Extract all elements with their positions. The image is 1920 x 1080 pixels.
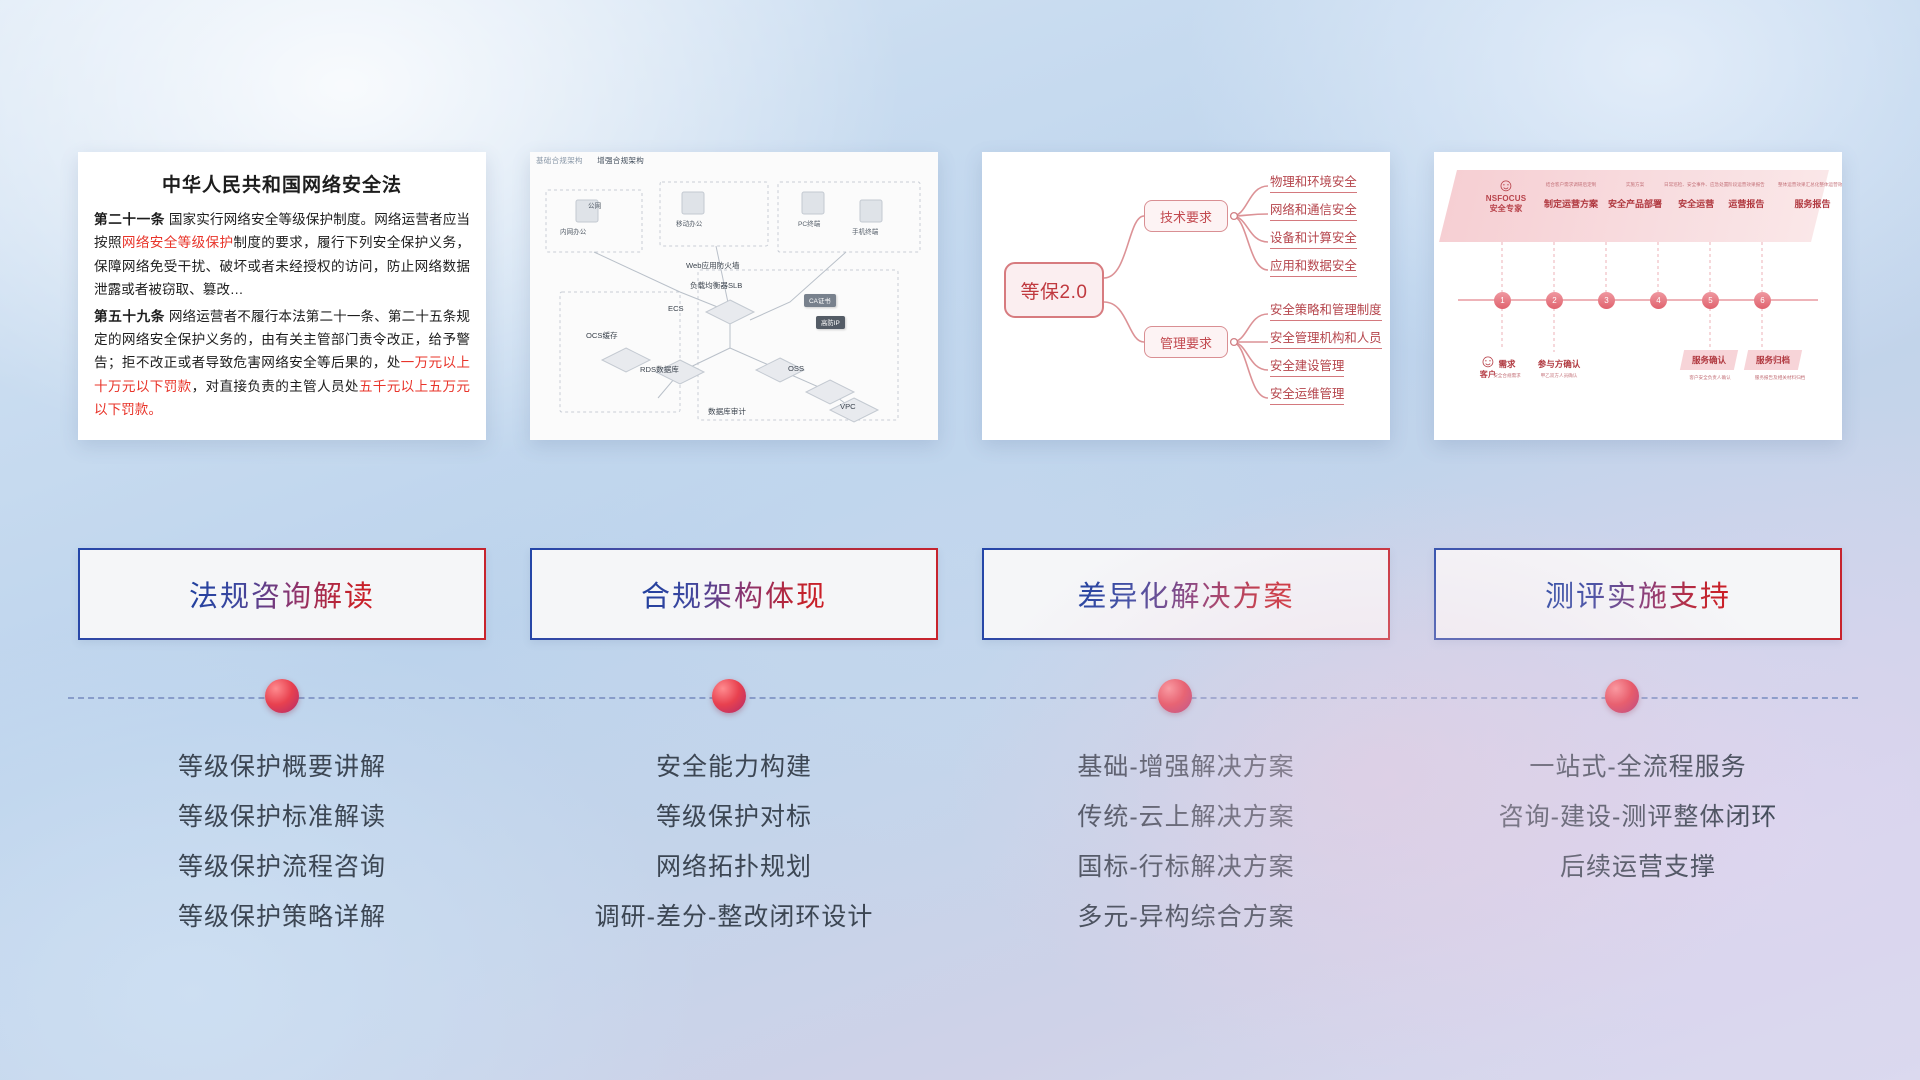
title-box-evaluation-support[interactable]: 测评实施支持 <box>1434 548 1842 640</box>
chip-anti-ddos-ip: 高防IP <box>816 316 845 329</box>
mindmap-leaf: 应用和数据安全 <box>1270 256 1357 277</box>
detail-list-differentiated-solution: 基础-增强解决方案 传统-云上解决方案 国标-行标解决方案 多元-异构综合方案 <box>982 742 1390 942</box>
card-mind-map: 等保2.0 技术要求 管理要求 物理和环境安全 网络和通信安全 设备和计算安全 … <box>982 152 1390 440</box>
node-label-slb: 负载均衡器SLB <box>690 280 742 291</box>
node-label-mobile-office: 移动办公 <box>676 218 702 228</box>
architecture-diagram-lines <box>530 152 938 440</box>
title-box-differentiated-solution[interactable]: 差异化解决方案 <box>982 548 1390 640</box>
list-item: 基础-增强解决方案 <box>982 742 1390 792</box>
node-label-rds: RDS数据库 <box>640 364 679 375</box>
mindmap-leaf: 安全管理机构和人员 <box>1270 328 1382 349</box>
mindmap-branch-management: 管理要求 <box>1144 326 1228 358</box>
timeline-node-5: 5 <box>1702 292 1719 309</box>
list-item: 等级保护标准解读 <box>78 792 486 842</box>
detail-list-row: 等级保护概要讲解 等级保护标准解读 等级保护流程咨询 等级保护策略详解 安全能力… <box>78 742 1842 942</box>
timeline-node-6: 6 <box>1754 292 1771 309</box>
title-text: 差异化解决方案 <box>1077 573 1294 615</box>
timeline-tag-service-archive: 服务归档 <box>1744 350 1802 370</box>
timeline-marker-3 <box>1158 679 1192 713</box>
mindmap-leaf: 网络和通信安全 <box>1270 200 1357 221</box>
mindmap-leaf: 安全建设管理 <box>1270 356 1344 377</box>
timeline-node-2: 2 <box>1546 292 1563 309</box>
title-text: 合规架构体现 <box>641 573 827 615</box>
detail-list-compliance-architecture: 安全能力构建 等级保护对标 网络拓扑规划 调研-差分-整改闭环设计 <box>530 742 938 942</box>
node-label-phone-terminal: 手机终端 <box>852 226 878 236</box>
node-label-ocs-cache: OCS缓存 <box>586 330 618 341</box>
node-label-db-audit: 数据库审计 <box>708 406 746 417</box>
mindmap-leaf: 设备和计算安全 <box>1270 228 1357 249</box>
law-title: 中华人民共和国网络安全法 <box>94 170 470 197</box>
card-cloud-architecture: 基础合规架构 增强合规架构 <box>530 152 938 440</box>
timeline-node-1: 1 <box>1494 292 1511 309</box>
mindmap-branch-technical: 技术要求 <box>1144 200 1228 232</box>
node-label-waf: Web应用防火墙 <box>686 260 739 271</box>
law-paragraph-1: 第二十一条 国家实行网络安全等级保护制度。网络运营者应当按照网络安全等级保护制度… <box>94 208 470 302</box>
law-paragraph-2: 第五十九条 网络运营者不履行本法第二十一条、第二十五条规定的网络安全保护义务的，… <box>94 305 470 422</box>
timeline-node-4: 4 <box>1650 292 1667 309</box>
timeline-dashed-line <box>68 697 1858 699</box>
list-item: 国标-行标解决方案 <box>982 842 1390 892</box>
timeline-bottom-label: 参与方确认 甲乙双方人员确认 <box>1526 358 1592 379</box>
title-text: 法规咨询解读 <box>189 573 375 615</box>
list-item: 等级保护对标 <box>530 792 938 842</box>
card-service-timeline: ☺ NSFOCUS 安全专家 结合客户需求调研后定制 制定运营方案 实施方案 安… <box>1434 152 1842 440</box>
timeline-bottom-sub: 客户安全负责人确认 <box>1674 372 1746 381</box>
list-item: 网络拓扑规划 <box>530 842 938 892</box>
list-item: 等级保护策略详解 <box>78 892 486 942</box>
node-label-pc-terminal: PC终端 <box>798 218 820 228</box>
node-label-vpc: VPC <box>840 402 856 411</box>
timeline-tag-service-confirm: 服务确认 <box>1680 350 1738 370</box>
law-run-highlight: 网络安全等级保护 <box>122 235 234 250</box>
illustration-card-row: 中华人民共和国网络安全法 第二十一条 国家实行网络安全等级保护制度。网络运营者应… <box>78 152 1842 440</box>
list-item: 咨询-建设-测评整体闭环 <box>1434 792 1842 842</box>
list-item: 后续运营支撑 <box>1434 842 1842 892</box>
mindmap-leaf: 安全运维管理 <box>1270 384 1344 405</box>
node-label-public-network: 公网 <box>588 200 601 210</box>
list-item: 等级保护流程咨询 <box>78 842 486 892</box>
list-item: 调研-差分-整改闭环设计 <box>530 892 938 942</box>
card-law-text: 中华人民共和国网络安全法 第二十一条 国家实行网络安全等级保护制度。网络运营者应… <box>78 152 486 440</box>
title-box-regulation-consulting[interactable]: 法规咨询解读 <box>78 548 486 640</box>
mindmap-leaf: 物理和环境安全 <box>1270 172 1357 193</box>
law-article-label-2: 第五十九条 <box>94 309 165 324</box>
section-title-row: 法规咨询解读 合规架构体现 差异化解决方案 测评实施支持 <box>78 548 1842 640</box>
timeline-marker-4 <box>1605 679 1639 713</box>
title-box-compliance-architecture[interactable]: 合规架构体现 <box>530 548 938 640</box>
list-item: 多元-异构综合方案 <box>982 892 1390 942</box>
chip-ca-certificate: CA证书 <box>804 294 836 307</box>
slide-canvas: 中华人民共和国网络安全法 第二十一条 国家实行网络安全等级保护制度。网络运营者应… <box>0 0 1920 1080</box>
timeline-bottom-label: 需求 安全合规需求 <box>1482 358 1532 379</box>
node-label-oss: OSS <box>788 364 804 373</box>
law-article-label-1: 第二十一条 <box>94 212 165 227</box>
timeline-node-3: 3 <box>1598 292 1615 309</box>
detail-list-evaluation-support: 一站式-全流程服务 咨询-建设-测评整体闭环 后续运营支撑 <box>1434 742 1842 942</box>
detail-list-regulation-consulting: 等级保护概要讲解 等级保护标准解读 等级保护流程咨询 等级保护策略详解 <box>78 742 486 942</box>
mindmap-root-node: 等保2.0 <box>1004 262 1104 318</box>
node-label-ecs: ECS <box>668 304 684 313</box>
timeline-marker-1 <box>265 679 299 713</box>
timeline-bottom-sub: 服务报告及相关材料归档 <box>1738 372 1822 381</box>
list-item: 传统-云上解决方案 <box>982 792 1390 842</box>
list-item: 等级保护概要讲解 <box>78 742 486 792</box>
mindmap-leaf: 安全策略和管理制度 <box>1270 300 1382 321</box>
law-run: ，对直接负责的主管人员处 <box>192 379 359 394</box>
node-label-intranet-office: 内网办公 <box>560 226 586 236</box>
timeline-marker-2 <box>712 679 746 713</box>
list-item: 一站式-全流程服务 <box>1434 742 1842 792</box>
title-text: 测评实施支持 <box>1545 573 1731 615</box>
list-item: 安全能力构建 <box>530 742 938 792</box>
